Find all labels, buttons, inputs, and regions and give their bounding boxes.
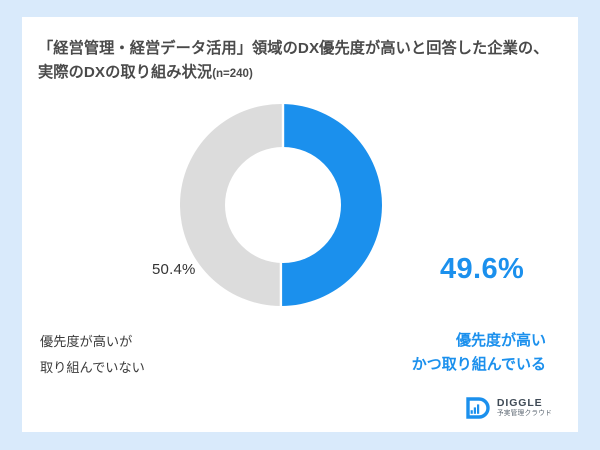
page-title: 「経営管理・経営データ活用」領域のDX優先度が高いと回答した企業の、実際のDXの… <box>38 37 562 84</box>
blue-slice-value-label: 49.6% <box>440 253 524 286</box>
donut-hole <box>225 147 341 263</box>
chart-card: 「経営管理・経営データ活用」領域のDX優先度が高いと回答した企業の、実際のDXの… <box>22 17 578 432</box>
donut-chart <box>180 102 386 308</box>
blue-slice-category-line2: かつ取り組んでいる <box>412 353 546 377</box>
diggle-logo-text: DIGGLE 予実管理クラウド <box>497 398 552 418</box>
blue-slice-category-line1: 優先度が高い <box>412 329 546 353</box>
gray-slice-category-line2: 取り組んでいない <box>40 355 145 381</box>
blue-slice-category-label: 優先度が高い かつ取り組んでいる <box>412 329 546 378</box>
page-title-text: 「経営管理・経営データ活用」領域のDX優先度が高いと回答した企業の、実際のDXの… <box>38 40 549 81</box>
sample-size-label: (n=240) <box>212 68 253 80</box>
gray-slice-category-line1: 優先度が高いが <box>40 329 145 355</box>
diggle-d-bars-icon <box>466 397 492 419</box>
gray-slice-value-label: 50.4% <box>152 261 196 278</box>
donut-chart-svg <box>180 102 386 308</box>
diggle-logo: DIGGLE 予実管理クラウド <box>466 397 552 419</box>
diggle-logo-name: DIGGLE <box>497 398 552 409</box>
diggle-logo-tagline: 予実管理クラウド <box>497 411 552 418</box>
gray-slice-category-label: 優先度が高いが 取り組んでいない <box>40 329 145 380</box>
